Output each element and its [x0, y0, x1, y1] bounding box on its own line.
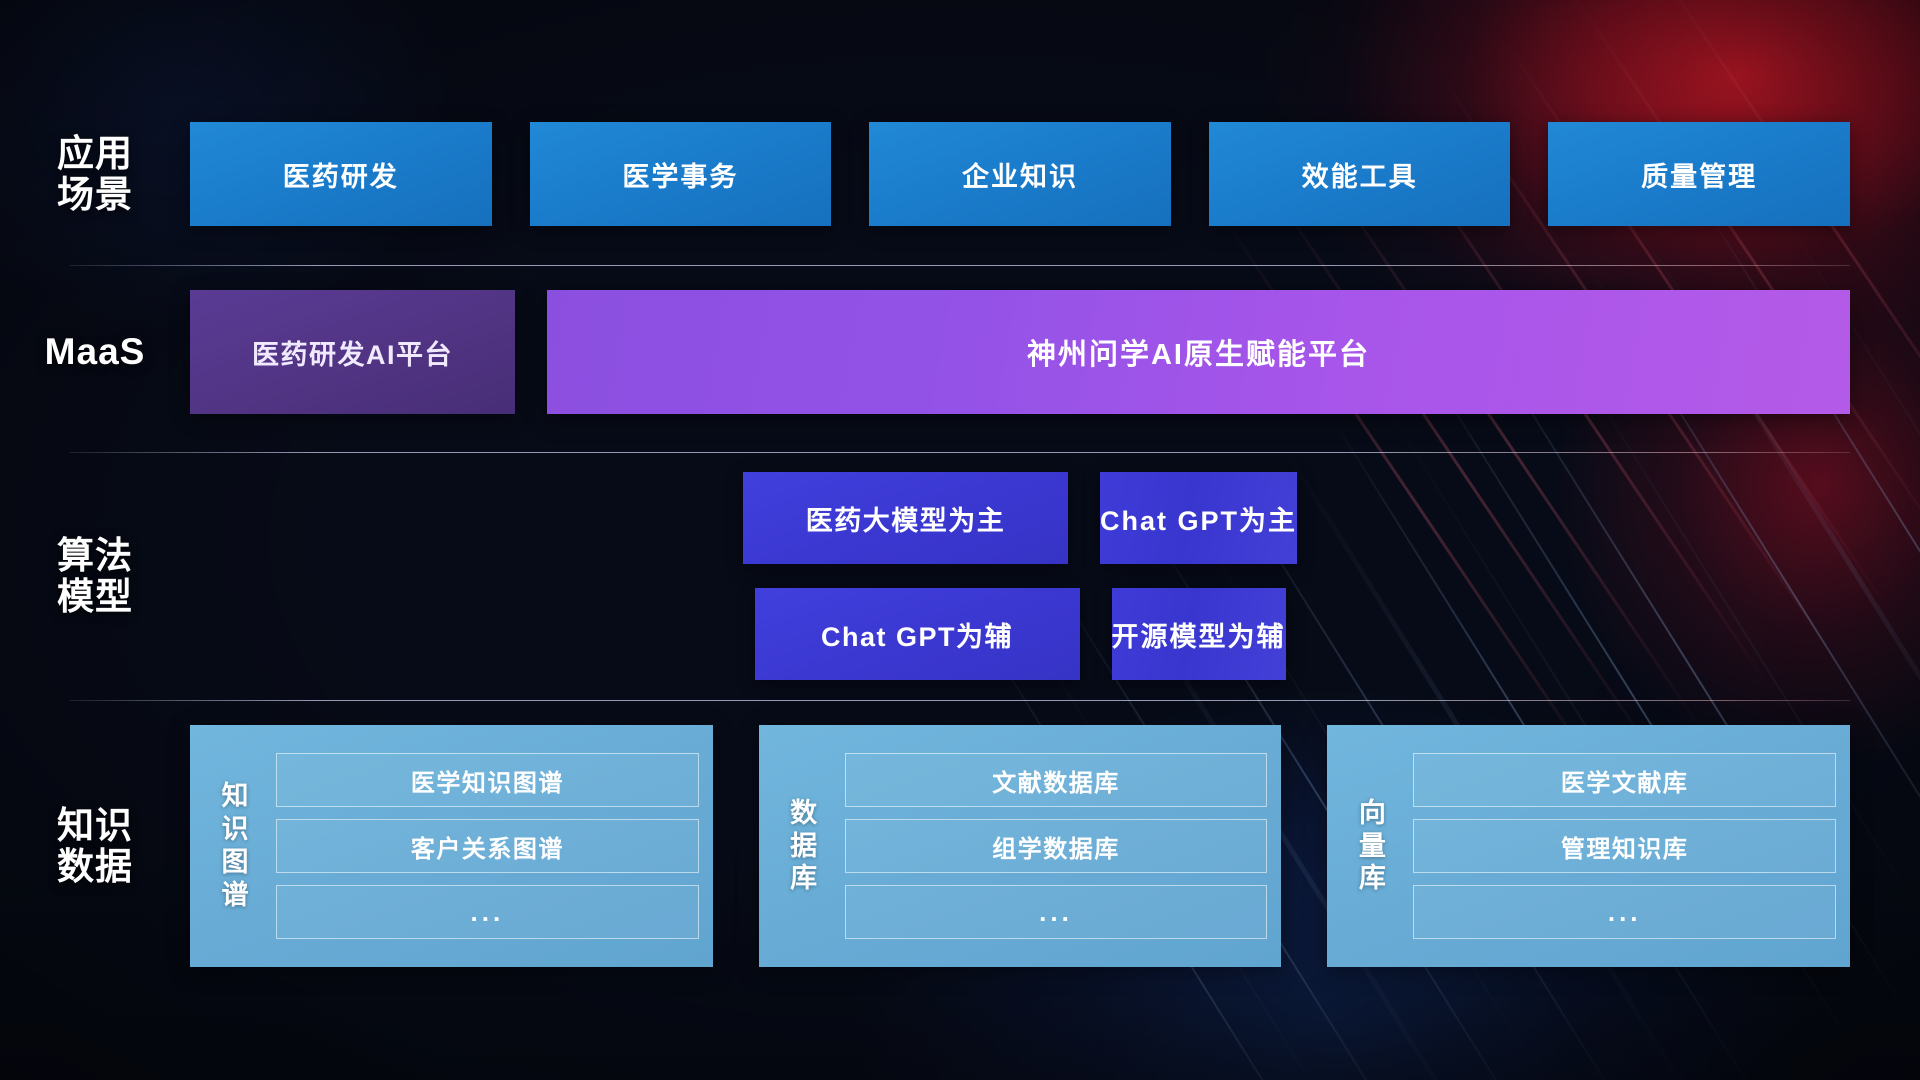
algo-box-pharma-llm-primary-label: 医药大模型为主: [806, 499, 1006, 538]
vlabel-char: 库: [1359, 862, 1386, 895]
row-label-algorithm: 算法 模型: [0, 472, 190, 680]
knowledge-item-label: 客户关系图谱: [411, 829, 564, 864]
knowledge-item-label: ...: [471, 897, 505, 928]
row-label-algorithm-line2: 模型: [57, 576, 133, 617]
app-box-efficiency-tools-label: 效能工具: [1302, 155, 1418, 194]
knowledge-item-more-database[interactable]: ...: [845, 885, 1268, 939]
maas-box-drug-ai-platform-label: 医药研发AI平台: [252, 333, 453, 372]
knowledge-item-label: 管理知识库: [1561, 829, 1689, 864]
row-label-application-line1: 应用: [0, 133, 190, 174]
app-box-enterprise-knowledge-label: 企业知识: [962, 155, 1078, 194]
knowledge-item-omics-database[interactable]: 组学数据库: [845, 819, 1268, 873]
maas-box-shenzhou-platform[interactable]: 神州问学AI原生赋能平台: [547, 290, 1850, 414]
row-label-maas: MaaS: [0, 331, 190, 372]
row-label-maas-text: MaaS: [0, 331, 190, 372]
knowledge-item-label: 组学数据库: [992, 829, 1120, 864]
vlabel-char: 据: [790, 830, 817, 863]
knowledge-panel-knowledge-graph-items: 医学知识图谱 客户关系图谱 ...: [266, 735, 699, 957]
algo-box-chatgpt-primary[interactable]: Chat GPT为主: [1100, 472, 1297, 564]
vlabel-char: 谱: [222, 879, 249, 912]
row-label-algorithm-line1: 算法: [57, 535, 133, 576]
maas-box-group: 医药研发AI平台 神州问学AI原生赋能平台: [190, 290, 1920, 414]
row-label-application-line2: 场景: [0, 174, 190, 215]
algo-box-chatgpt-primary-label: Chat GPT为主: [1100, 499, 1297, 538]
knowledge-item-customer-relation-graph[interactable]: 客户关系图谱: [276, 819, 699, 873]
vlabel-char: 知: [222, 780, 249, 813]
row-algorithm-models: 算法 模型 医药大模型为主 Chat GPT为主 Chat GPT为辅 开源模型…: [0, 472, 1920, 680]
knowledge-item-label: 文献数据库: [992, 763, 1120, 798]
vlabel-char: 数: [790, 797, 817, 830]
app-box-drug-rnd-label: 医药研发: [283, 155, 399, 194]
row-label-application: 应用 场景: [0, 133, 190, 216]
app-box-quality-management-label: 质量管理: [1641, 155, 1757, 194]
vlabel-char: 识: [222, 813, 249, 846]
knowledge-item-medical-knowledge-graph[interactable]: 医学知识图谱: [276, 753, 699, 807]
architecture-diagram: 应用 场景 医药研发 医学事务 企业知识 效能工具 质量管理 MaaS 医药研发…: [0, 0, 1920, 1080]
app-box-medical-affairs-label: 医学事务: [622, 155, 738, 194]
app-box-enterprise-knowledge[interactable]: 企业知识: [869, 122, 1171, 226]
knowledge-item-label: ...: [1039, 897, 1073, 928]
knowledge-item-label: 医学文献库: [1561, 763, 1689, 798]
knowledge-panel-database[interactable]: 数 据 库 文献数据库 组学数据库 ...: [759, 725, 1282, 967]
knowledge-item-label: 医学知识图谱: [411, 763, 564, 798]
app-box-drug-rnd[interactable]: 医药研发: [190, 122, 492, 226]
divider-after-algorithm: [70, 700, 1850, 701]
vlabel-char: 库: [790, 862, 817, 895]
algo-box-chatgpt-secondary-label: Chat GPT为辅: [821, 615, 1013, 654]
row-label-knowledge-line1: 知识: [57, 805, 133, 846]
app-box-medical-affairs[interactable]: 医学事务: [530, 122, 832, 226]
algo-box-chatgpt-secondary[interactable]: Chat GPT为辅: [755, 588, 1080, 680]
vlabel-char: 图: [222, 846, 249, 879]
knowledge-item-more-graph[interactable]: ...: [276, 885, 699, 939]
row-maas: MaaS 医药研发AI平台 神州问学AI原生赋能平台: [0, 290, 1920, 414]
knowledge-item-label: ...: [1608, 897, 1642, 928]
algo-box-opensource-secondary-label: 开源模型为辅: [1112, 615, 1286, 654]
divider-after-maas: [70, 452, 1850, 453]
row-knowledge-data: 知识 数据 知 识 图 谱 医学知识图谱 客户关系图谱 ... 数: [0, 725, 1920, 967]
knowledge-item-medical-literature-store[interactable]: 医学文献库: [1413, 753, 1836, 807]
row-label-knowledge: 知识 数据: [0, 725, 190, 967]
knowledge-panel-knowledge-graph-vertical-label: 知 识 图 谱: [204, 735, 266, 957]
knowledge-panel-database-vertical-label: 数 据 库: [773, 735, 835, 957]
app-box-quality-management[interactable]: 质量管理: [1548, 122, 1850, 226]
algo-box-opensource-secondary[interactable]: 开源模型为辅: [1112, 588, 1286, 680]
knowledge-item-management-knowledge-store[interactable]: 管理知识库: [1413, 819, 1836, 873]
algorithm-row-primary: 医药大模型为主 Chat GPT为主: [743, 472, 1297, 564]
application-box-group: 医药研发 医学事务 企业知识 效能工具 质量管理: [190, 122, 1920, 226]
knowledge-panel-vector-store-vertical-label: 向 量 库: [1341, 735, 1403, 957]
knowledge-item-more-vector[interactable]: ...: [1413, 885, 1836, 939]
vlabel-char: 量: [1359, 830, 1386, 863]
knowledge-item-literature-database[interactable]: 文献数据库: [845, 753, 1268, 807]
knowledge-panel-vector-store-items: 医学文献库 管理知识库 ...: [1403, 735, 1836, 957]
knowledge-panel-database-items: 文献数据库 组学数据库 ...: [835, 735, 1268, 957]
knowledge-panel-group: 知 识 图 谱 医学知识图谱 客户关系图谱 ... 数 据 库: [190, 725, 1920, 967]
knowledge-panel-vector-store[interactable]: 向 量 库 医学文献库 管理知识库 ...: [1327, 725, 1850, 967]
divider-after-application: [70, 265, 1850, 266]
app-box-efficiency-tools[interactable]: 效能工具: [1209, 122, 1511, 226]
vlabel-char: 向: [1359, 797, 1386, 830]
row-label-knowledge-line2: 数据: [57, 846, 133, 887]
knowledge-panel-knowledge-graph[interactable]: 知 识 图 谱 医学知识图谱 客户关系图谱 ...: [190, 725, 713, 967]
algorithm-row-secondary: Chat GPT为辅 开源模型为辅: [755, 588, 1286, 680]
algo-box-pharma-llm-primary[interactable]: 医药大模型为主: [743, 472, 1068, 564]
algorithm-box-group: 医药大模型为主 Chat GPT为主 Chat GPT为辅 开源模型为辅: [190, 472, 1920, 680]
maas-box-shenzhou-platform-label: 神州问学AI原生赋能平台: [1027, 331, 1370, 373]
row-application-scenarios: 应用 场景 医药研发 医学事务 企业知识 效能工具 质量管理: [0, 122, 1920, 226]
maas-box-drug-ai-platform[interactable]: 医药研发AI平台: [190, 290, 515, 414]
